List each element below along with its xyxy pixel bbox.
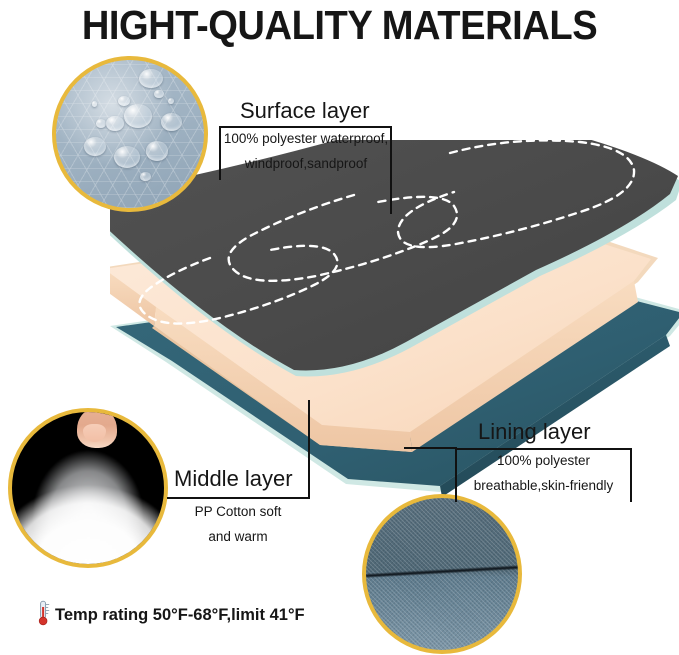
callout-middle-line1: PP Cotton soft xyxy=(168,500,308,525)
cotton-fiber-mass xyxy=(8,436,168,568)
callout-surface-line1: 100% polyester waterproof, xyxy=(222,127,390,152)
water-droplet xyxy=(106,116,124,131)
leader-line-surface xyxy=(390,178,392,214)
callout-lining-line2: breathable,skin-friendly xyxy=(457,474,630,499)
water-droplet xyxy=(139,69,163,88)
callout-middle-line2: and warm xyxy=(168,525,308,550)
water-droplets-on-fabric-photo xyxy=(52,56,208,212)
water-droplet xyxy=(146,141,168,160)
callout-body-middle: PP Cotton soft and warm xyxy=(168,500,308,550)
temp-rating-label: Temp rating 50°F-68°F,limit 41°F xyxy=(55,606,305,625)
hexagon-mesh-texture xyxy=(56,60,204,208)
leader-line-middle xyxy=(308,400,310,464)
page-title: HIGHT-QUALITY MATERIALS xyxy=(24,2,655,49)
callout-surface-line2: windproof,sandproof xyxy=(222,152,390,177)
callout-body-lining: 100% polyester breathable,skin-friendly xyxy=(457,449,630,499)
water-droplet xyxy=(118,96,130,106)
callout-title-middle: Middle layer xyxy=(174,466,293,492)
lining-fabric-texture-photo xyxy=(362,494,522,654)
leader-line-lining xyxy=(404,447,457,449)
callout-title-lining: Lining layer xyxy=(478,419,591,445)
water-droplet xyxy=(161,113,182,131)
water-droplet xyxy=(114,146,141,168)
thermometer-icon xyxy=(36,600,52,631)
temp-rating: Temp rating 50°F-68°F,limit 41°F xyxy=(36,600,305,631)
callout-lining-line1: 100% polyester xyxy=(457,449,630,474)
callout-body-surface: 100% polyester waterproof, windproof,san… xyxy=(222,127,390,177)
pp-cotton-fiber-photo xyxy=(8,408,168,568)
callout-title-surface: Surface layer xyxy=(240,98,370,124)
